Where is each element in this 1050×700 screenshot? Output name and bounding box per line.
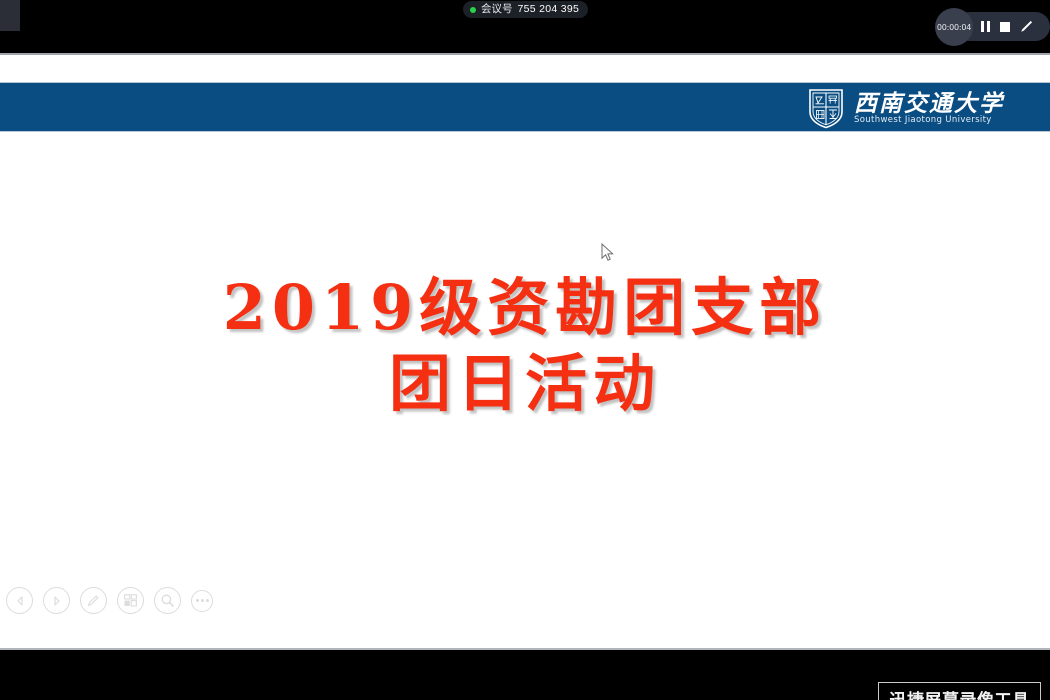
- top-black-bar: 会议号 755 204 395 00:00:04: [0, 0, 1050, 53]
- all-slides-button[interactable]: [117, 587, 144, 614]
- corner-block: [0, 0, 20, 31]
- meeting-id-pill[interactable]: 会议号 755 204 395: [463, 1, 588, 18]
- meeting-id-number: 755 204 395: [518, 4, 580, 15]
- more-options-button[interactable]: [191, 590, 213, 612]
- university-name-cn: 西南交通大学: [854, 92, 1004, 115]
- recording-buttons: [981, 12, 1033, 41]
- recording-timer[interactable]: 00:00:04: [935, 8, 973, 46]
- recording-timer-text: 00:00:04: [937, 23, 971, 32]
- pause-icon[interactable]: [981, 21, 990, 32]
- university-logo: 西南交通大学 Southwest Jiaotong University: [807, 87, 1004, 129]
- zoom-button[interactable]: [154, 587, 181, 614]
- pencil-icon[interactable]: [1020, 20, 1033, 33]
- green-status-dot: [470, 7, 476, 13]
- slideshow-control-bar: [6, 587, 213, 614]
- watermark-title: 迅捷屏幕录像工具: [879, 690, 1040, 700]
- university-name-block: 西南交通大学 Southwest Jiaotong University: [854, 92, 1004, 125]
- slide-header-band: 西南交通大学 Southwest Jiaotong University: [0, 82, 1050, 132]
- screen-capture-root: 会议号 755 204 395 00:00:04: [0, 0, 1050, 700]
- university-shield-icon: [807, 87, 845, 129]
- ellipsis-icon: [196, 599, 209, 602]
- slide-title-line-1: 2019级资勘团支部: [0, 270, 1050, 346]
- previous-slide-button[interactable]: [6, 587, 33, 614]
- screen-recorder-watermark: 迅捷屏幕录像工具 www.xunjieshipin.com: [878, 682, 1041, 700]
- next-slide-button[interactable]: [43, 587, 70, 614]
- university-name-en: Southwest Jiaotong University: [854, 116, 1004, 125]
- meeting-id-label: 会议号: [481, 4, 513, 15]
- stop-icon[interactable]: [1000, 22, 1010, 32]
- presentation-slide: 西南交通大学 Southwest Jiaotong University 201…: [0, 55, 1050, 650]
- slide-title-line-2: 团日活动: [0, 346, 1050, 422]
- slide-title: 2019级资勘团支部 团日活动: [0, 270, 1050, 422]
- pen-tool-button[interactable]: [80, 587, 107, 614]
